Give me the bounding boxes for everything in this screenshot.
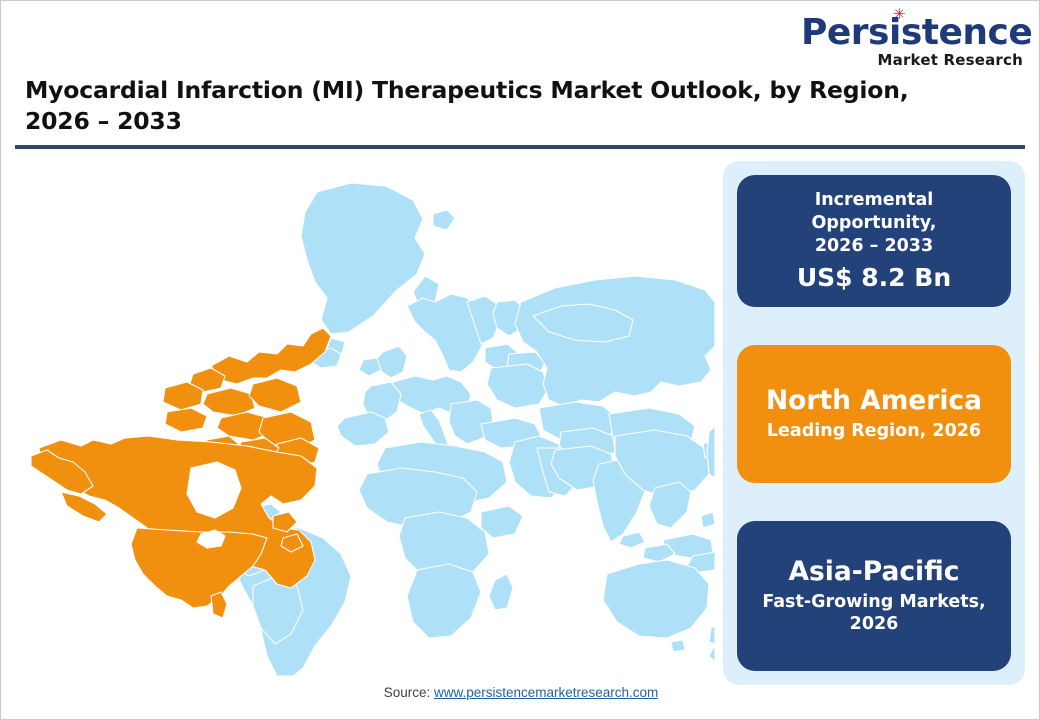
page-title: Myocardial Infarction (MI) Therapeutics … bbox=[25, 75, 955, 137]
stats-panel: Incremental Opportunity, 2026 – 2033 US$… bbox=[723, 161, 1025, 685]
leading-region-name: North America bbox=[766, 385, 982, 417]
infographic-canvas: Persistence✳ Market Research Myocardial … bbox=[0, 0, 1040, 720]
incremental-label-line2: 2026 – 2033 bbox=[815, 235, 933, 258]
source-url-link[interactable]: www.persistencemarketresearch.com bbox=[434, 685, 658, 700]
leading-region-subtitle: Leading Region, 2026 bbox=[767, 420, 981, 443]
brand-star-icon: ✳ bbox=[893, 9, 904, 20]
brand-name: Persistence bbox=[801, 15, 1032, 51]
world-map bbox=[15, 156, 715, 676]
source-line: Source: www.persistencemarketresearch.co… bbox=[1, 685, 1040, 700]
incremental-value: US$ 8.2 Bn bbox=[797, 262, 951, 293]
fast-growing-region-name: Asia-Pacific bbox=[789, 556, 960, 588]
map-region-north-america-highlight bbox=[31, 328, 331, 618]
card-leading-region: North America Leading Region, 2026 bbox=[737, 345, 1011, 483]
source-prefix: Source: bbox=[384, 685, 434, 700]
brand-logo: Persistence✳ Market Research bbox=[801, 15, 1023, 68]
card-fast-growing-markets: Asia-Pacific Fast-Growing Markets, 2026 bbox=[737, 521, 1011, 671]
incremental-label-line1: Incremental Opportunity, bbox=[753, 189, 995, 235]
card-incremental-opportunity: Incremental Opportunity, 2026 – 2033 US$… bbox=[737, 175, 1011, 307]
brand-tagline: Market Research bbox=[801, 53, 1023, 68]
world-map-svg bbox=[15, 156, 715, 676]
title-divider bbox=[15, 145, 1025, 149]
fast-growing-subtitle: Fast-Growing Markets, 2026 bbox=[753, 591, 995, 637]
